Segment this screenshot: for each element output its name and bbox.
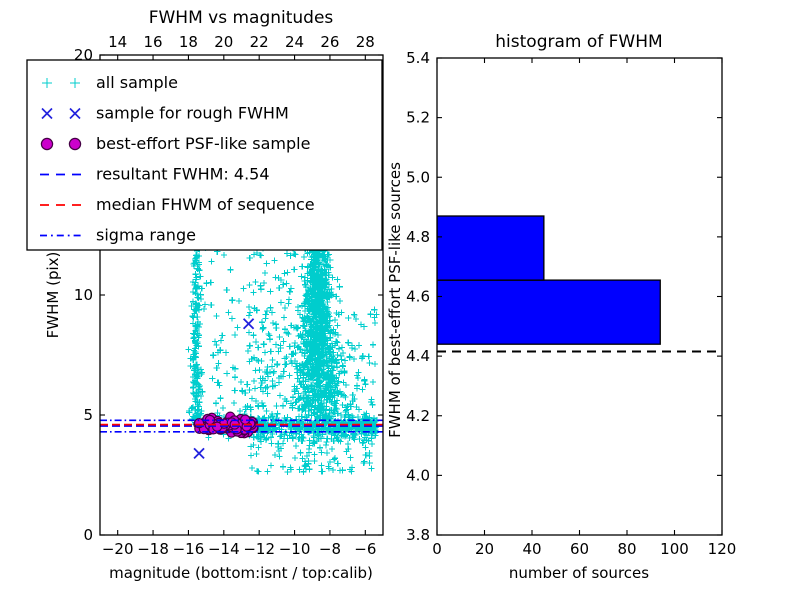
legend-entry-label: median FHWM of sequence	[96, 195, 315, 214]
left-top-tick-label: 16	[144, 33, 163, 51]
circle-marker	[41, 138, 52, 149]
left-bottom-tick-label: −20	[102, 540, 134, 558]
right-y-tick-labels: 3.84.04.24.44.64.85.05.25.4	[406, 49, 430, 544]
left-top-tick-label: 18	[179, 33, 198, 51]
left-top-tick-label: 26	[320, 33, 339, 51]
legend-entry-label: sample for rough FWHM	[96, 104, 289, 123]
legend-entry-label: best-effort PSF-like sample	[96, 134, 310, 153]
legend-entry-label: sigma range	[96, 226, 196, 245]
left-bottom-tick-label: −8	[319, 540, 341, 558]
right-x-tick-label: 60	[570, 540, 589, 558]
right-y-tick-label: 4.2	[406, 407, 430, 425]
right-panel-ylabel: FWHM of best-effort PSF-like sources	[386, 162, 404, 438]
left-panel-ylabel: FWHM (pix)	[44, 252, 62, 339]
left-top-tick-label: 20	[214, 33, 233, 51]
right-x-tick-label: 0	[432, 540, 442, 558]
figure-canvas: −20−18−16−14−12−10−8−6 1416182022242628 …	[0, 0, 800, 600]
left-top-tick-label: 14	[108, 33, 127, 51]
left-top-tick-label: 24	[285, 33, 304, 51]
circle-marker	[69, 138, 80, 149]
left-bottom-tick-label: −18	[137, 540, 169, 558]
left-bottom-tick-label: −12	[243, 540, 275, 558]
histogram-bar	[437, 280, 660, 344]
matplotlib-figure: −20−18−16−14−12−10−8−6 1416182022242628 …	[0, 0, 800, 600]
right-y-tick-label: 5.4	[406, 49, 430, 67]
left-bottom-tick-label: −14	[208, 540, 240, 558]
right-y-tick-label: 4.0	[406, 466, 430, 484]
left-bottom-tick-label: −16	[173, 540, 205, 558]
left-y-tick-label: 0	[83, 526, 93, 544]
legend-entry-label: all sample	[96, 73, 178, 92]
left-bottom-tick-label: −6	[354, 540, 376, 558]
left-panel-xlabel: magnitude (bottom:isnt / top:calib)	[109, 564, 373, 582]
right-y-tick-label: 4.8	[406, 228, 430, 246]
right-y-tick-label: 5.0	[406, 168, 430, 186]
left-bottom-tick-label: −10	[279, 540, 311, 558]
right-x-tick-label: 80	[617, 540, 636, 558]
left-top-tick-label: 28	[356, 33, 375, 51]
left-panel-title: FWHM vs magnitudes	[149, 8, 334, 28]
right-y-tick-label: 4.6	[406, 288, 430, 306]
left-y-tick-label: 10	[74, 286, 93, 304]
left-bottom-tick-labels: −20−18−16−14−12−10−8−6	[102, 540, 377, 558]
right-panel-histogram: 020406080100120 3.84.04.24.44.64.85.05.2…	[386, 32, 736, 582]
right-y-tick-label: 4.4	[406, 347, 430, 365]
left-y-tick-label: 5	[83, 406, 93, 424]
left-top-tick-label: 22	[250, 33, 269, 51]
right-y-tick-label: 3.8	[406, 526, 430, 544]
right-x-tick-label: 40	[522, 540, 541, 558]
right-x-tick-label: 120	[708, 540, 737, 558]
right-x-tick-label: 100	[660, 540, 689, 558]
right-x-tick-label: 20	[475, 540, 494, 558]
right-panel-xlabel: number of sources	[509, 564, 649, 582]
legend-entry-label: resultant FWHM: 4.54	[96, 165, 270, 184]
right-y-tick-label: 5.2	[406, 109, 430, 127]
legend-frame	[27, 60, 382, 250]
legend-box[interactable]: all samplesample for rough FWHMbest-effo…	[27, 60, 382, 250]
histogram-bar	[437, 216, 544, 280]
right-panel-title: histogram of FWHM	[495, 32, 662, 52]
